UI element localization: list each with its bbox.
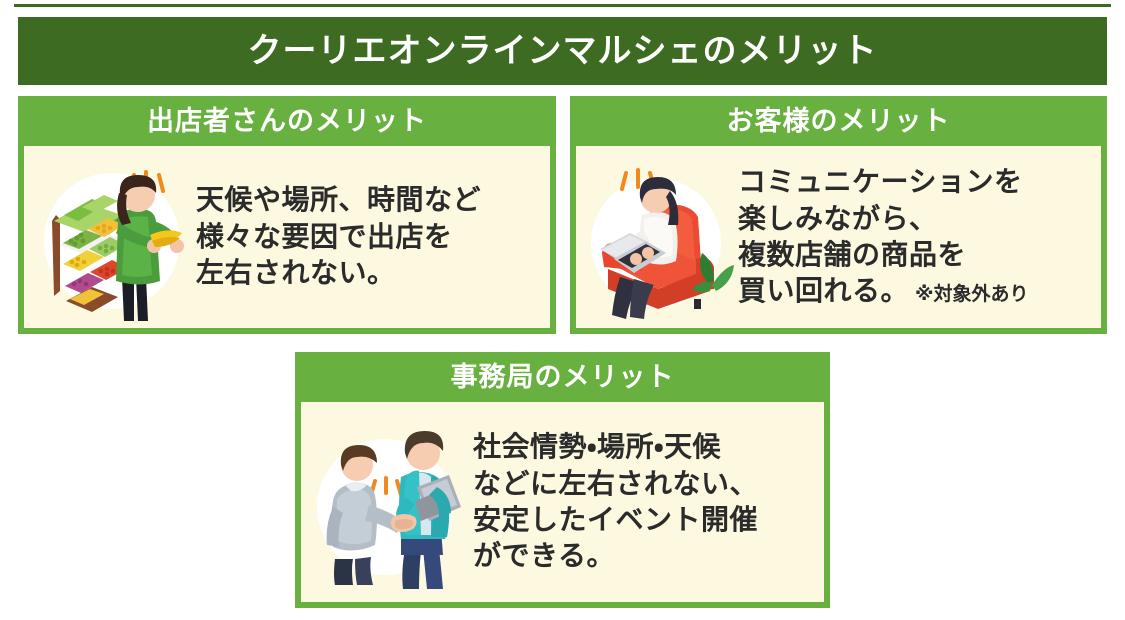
market-vendor-svg [30, 149, 190, 325]
handshake-svg [309, 409, 469, 595]
card-body-office: 社会情勢・場所・天候 などに左右されない、 安定したイベント開催 ができる。 [301, 402, 824, 602]
card-copy-customer: コミュニケーションを 楽しみながら、 複数店舗の商品を 買い回れる。※対象外あり [734, 164, 1101, 310]
copy-line: 安定したイベント開催 [473, 502, 824, 538]
main-title-banner: クーリエオンラインマルシェのメリット [18, 17, 1107, 85]
page-title: クーリエオンラインマルシェのメリット [248, 34, 878, 68]
card-body-exhibitor: 天候や場所、時間など 様々な要因で出店を 左右されない。 [24, 146, 550, 328]
copy-line: などに左右されない、 [473, 466, 824, 502]
copy-line-text: 買い回れる。 [738, 275, 909, 306]
copy-line: 左右されない。 [196, 255, 550, 291]
copy-line: 楽しみながら、 [738, 201, 1101, 237]
card-copy-exhibitor: 天候や場所、時間など 様々な要因で出店を 左右されない。 [190, 182, 550, 291]
card-header-office: 事務局のメリット [295, 352, 830, 402]
laptop-on-armchair-illustration [584, 149, 734, 325]
merit-card-office: 事務局のメリット [295, 352, 830, 608]
merit-card-exhibitor: 出店者さんのメリット [18, 96, 556, 334]
card-body-customer: コミュニケーションを 楽しみながら、 複数店舗の商品を 買い回れる。※対象外あり [576, 146, 1101, 328]
card-title-customer: お客様のメリット [727, 108, 951, 135]
handshake-illustration [309, 409, 469, 595]
card-title-office: 事務局のメリット [451, 364, 675, 391]
copy-line: ができる。 [473, 538, 824, 574]
copy-line: 天候や場所、時間など [196, 182, 550, 218]
merit-card-customer: お客様のメリット [570, 96, 1107, 334]
card-header-exhibitor: 出店者さんのメリット [18, 96, 556, 146]
copy-line: 複数店舗の商品を [738, 237, 1101, 273]
copy-line: 様々な要因で出店を [196, 219, 550, 255]
market-vendor-illustration [30, 149, 190, 325]
card-title-exhibitor: 出店者さんのメリット [147, 108, 427, 135]
top-divider [14, 4, 1111, 7]
copy-line: 社会情勢・場所・天候 [473, 429, 824, 465]
laptop-armchair-svg [584, 149, 734, 325]
card-header-customer: お客様のメリット [570, 96, 1107, 146]
card-copy-office: 社会情勢・場所・天候 などに左右されない、 安定したイベント開催 ができる。 [469, 429, 824, 575]
copy-line: コミュニケーションを [738, 164, 1101, 200]
infographic-page: クーリエオンラインマルシェのメリット 出店者さんのメリット [0, 0, 1125, 620]
copy-line-with-note: 買い回れる。※対象外あり [738, 273, 1101, 309]
footnote-text: ※対象外あり [915, 284, 1028, 305]
